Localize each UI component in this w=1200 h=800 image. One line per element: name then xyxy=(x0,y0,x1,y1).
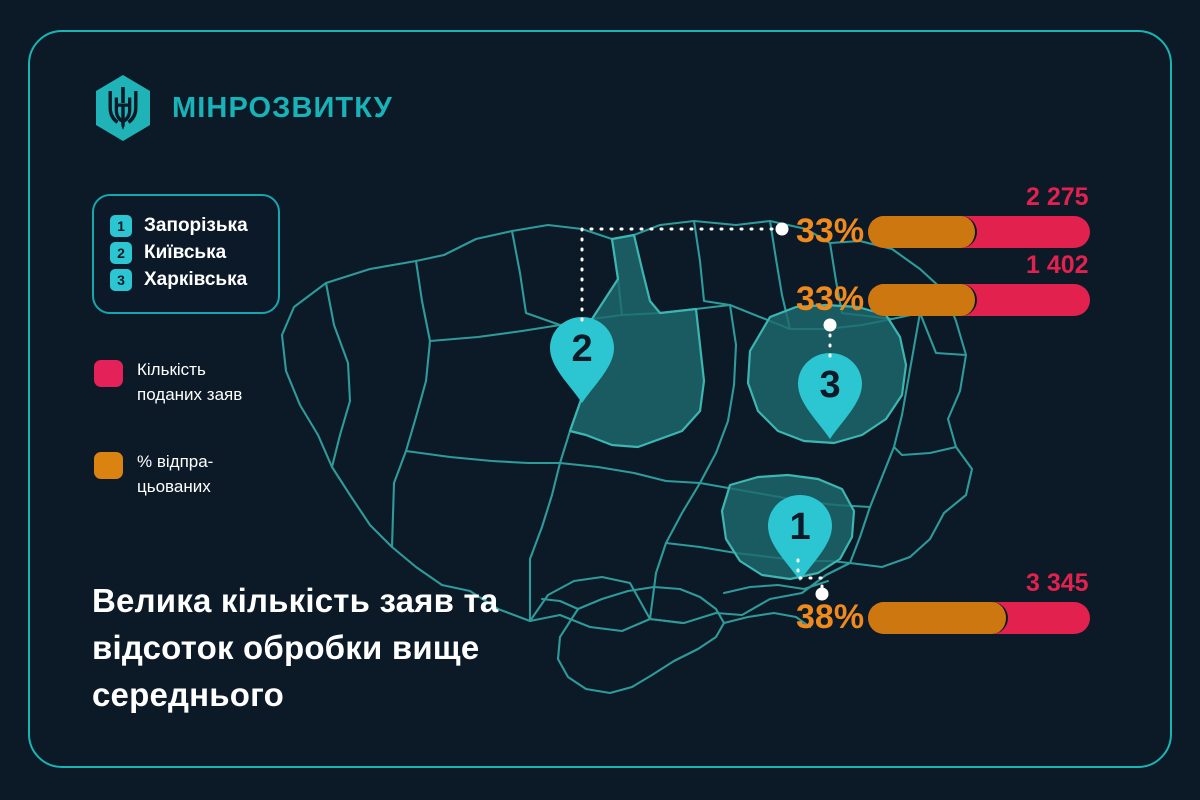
bar-value-2: 1 402 xyxy=(1026,251,1089,280)
headline: Велика кількість заяв та відсоток обробк… xyxy=(92,578,632,719)
region-label-2: Київська xyxy=(144,242,226,264)
region-badge-2: 2 xyxy=(110,242,132,264)
bar-value-3: 3 345 xyxy=(1026,569,1089,598)
infographic-poster: 2 3 1 xyxy=(0,0,1200,800)
region-label-3: Харківська xyxy=(144,269,247,291)
legend-item-2: 2 Київська xyxy=(110,242,262,264)
map-marker-3: 3 xyxy=(798,353,862,439)
legend-item-3: 3 Харківська xyxy=(110,269,262,291)
pink-key-label: Кількістьподаних заяв xyxy=(137,358,242,407)
brand-name: МІНРОЗВИТКУ xyxy=(172,92,393,125)
bar-value-1: 2 275 xyxy=(1026,183,1089,212)
bar-track-2: 1 402 xyxy=(868,284,1090,316)
bar-row-zaporizhzhia: 38% 3 345 xyxy=(796,598,1090,637)
bar-percent-2: 33% xyxy=(796,280,868,319)
region-badge-1: 1 xyxy=(110,215,132,237)
map-marker-2: 2 xyxy=(550,317,614,403)
region-label-1: Запорізька xyxy=(144,215,248,237)
bar-processed-3 xyxy=(868,602,1008,634)
brand-logo: МІНРОЗВИТКУ xyxy=(92,74,393,142)
bar-track-1: 2 275 xyxy=(868,216,1090,248)
svg-text:1: 1 xyxy=(789,506,810,548)
bar-processed-1 xyxy=(868,216,977,248)
svg-text:3: 3 xyxy=(819,364,840,406)
region-legend: 1 Запорізька 2 Київська 3 Харківська xyxy=(92,194,280,314)
region-badge-3: 3 xyxy=(110,269,132,291)
color-key-applications: Кількістьподаних заяв xyxy=(94,358,242,407)
orange-swatch xyxy=(94,452,123,479)
bar-row-kyiv: 33% 2 275 xyxy=(796,212,1090,251)
bar-percent-3: 38% xyxy=(796,598,868,637)
bar-track-3: 3 345 xyxy=(868,602,1090,634)
svg-text:2: 2 xyxy=(571,328,592,370)
bar-row-kharkiv: 33% 1 402 xyxy=(796,280,1090,319)
bar-percent-1: 33% xyxy=(796,212,868,251)
map-marker-1: 1 xyxy=(768,495,832,581)
color-key-processed: % відпра-цьованих xyxy=(94,450,213,499)
ukraine-trident-hexagon-icon xyxy=(92,74,154,142)
orange-key-label: % відпра-цьованих xyxy=(137,450,213,499)
bar-processed-2 xyxy=(868,284,977,316)
pink-swatch xyxy=(94,360,123,387)
legend-item-1: 1 Запорізька xyxy=(110,215,262,237)
